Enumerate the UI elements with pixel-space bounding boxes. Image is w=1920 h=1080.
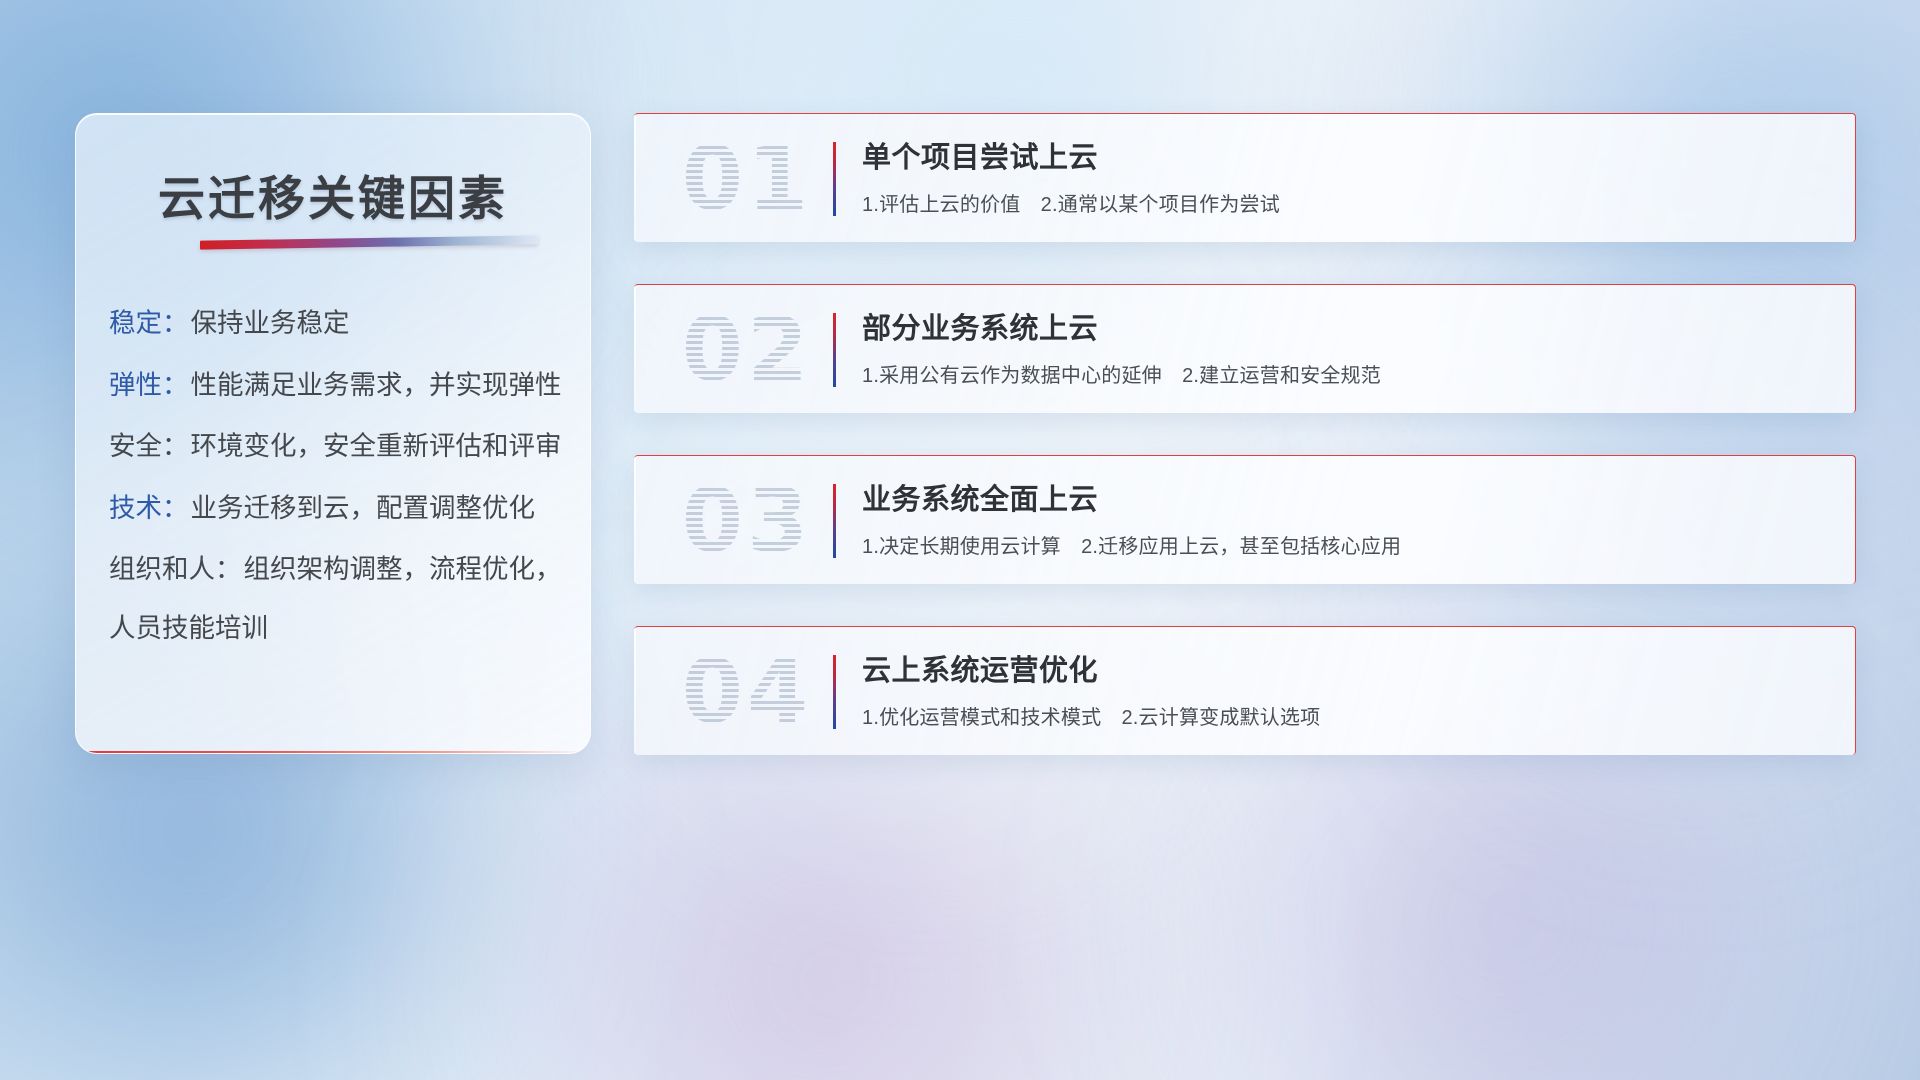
stage-card-02[interactable]: 02 部分业务系统上云 1.采用公有云作为数据中心的延伸 2.建立运营和安全规范 xyxy=(634,284,1856,413)
stage-number-graphic: 03 xyxy=(662,470,832,572)
factor-value: 业务迁移到云，配置调整优化 xyxy=(191,495,536,522)
factor-label: 弹性： xyxy=(109,372,189,399)
stage-accent-bar xyxy=(833,313,836,387)
factor-label: 稳定： xyxy=(109,310,189,337)
stage-card-body: 单个项目尝试上云 1.评估上云的价值 2.通常以某个项目作为尝试 xyxy=(862,134,1831,217)
factor-value: 组织架构调整，流程优化， xyxy=(244,556,562,583)
stage-card-body: 部分业务系统上云 1.采用公有云作为数据中心的延伸 2.建立运营和安全规范 xyxy=(862,305,1831,388)
factor-value-continuation: 人员技能培训 xyxy=(109,615,566,642)
list-item: 稳定： 保持业务稳定 xyxy=(109,310,566,337)
list-item: 组织和人： 组织架构调整，流程优化， xyxy=(109,556,566,583)
key-factors-panel: 云迁移关键因素 稳定： 保持业务稳定 弹性： 性能满足业务需求，并实现弹性 安全… xyxy=(75,113,591,754)
stage-card-01[interactable]: 01 单个项目尝试上云 1.评估上云的价值 2.通常以某个项目作为尝试 xyxy=(634,113,1856,242)
title-underline-accent xyxy=(200,235,538,249)
stage-title: 部分业务系统上云 xyxy=(862,305,1831,347)
stage-title: 单个项目尝试上云 xyxy=(862,134,1831,176)
factor-value: 环境变化，安全重新评估和评审 xyxy=(191,433,562,460)
stage-card-body: 云上系统运营优化 1.优化运营模式和技术模式 2.云计算变成默认选项 xyxy=(862,647,1831,730)
stage-description: 1.优化运营模式和技术模式 2.云计算变成默认选项 xyxy=(862,701,1831,730)
factor-value: 性能满足业务需求，并实现弹性 xyxy=(191,372,562,399)
stage-card-03[interactable]: 03 业务系统全面上云 1.决定长期使用云计算 2.迁移应用上云，甚至包括核心应… xyxy=(634,455,1856,584)
list-item: 弹性： 性能满足业务需求，并实现弹性 xyxy=(109,372,566,399)
factor-list: 稳定： 保持业务稳定 弹性： 性能满足业务需求，并实现弹性 安全： 环境变化，安… xyxy=(109,310,566,641)
stage-card-04[interactable]: 04 云上系统运营优化 1.优化运营模式和技术模式 2.云计算变成默认选项 xyxy=(634,626,1856,755)
stage-card-body: 业务系统全面上云 1.决定长期使用云计算 2.迁移应用上云，甚至包括核心应用 xyxy=(862,476,1831,559)
stage-accent-bar xyxy=(833,142,836,216)
factor-label: 技术： xyxy=(109,495,189,522)
page-title: 云迁移关键因素 xyxy=(76,160,590,229)
stage-description: 1.决定长期使用云计算 2.迁移应用上云，甚至包括核心应用 xyxy=(862,530,1831,559)
stage-title: 业务系统全面上云 xyxy=(862,476,1831,518)
stage-card-list: 01 单个项目尝试上云 1.评估上云的价值 2.通常以某个项目作为尝试 02 部… xyxy=(634,113,1856,755)
factor-label: 组织和人： xyxy=(109,556,242,583)
stage-number-graphic: 01 xyxy=(662,128,832,230)
stage-description: 1.采用公有云作为数据中心的延伸 2.建立运营和安全规范 xyxy=(862,359,1831,388)
stage-number-graphic: 04 xyxy=(662,641,832,743)
stage-title: 云上系统运营优化 xyxy=(862,647,1831,689)
stage-description: 1.评估上云的价值 2.通常以某个项目作为尝试 xyxy=(862,188,1831,217)
factor-value: 保持业务稳定 xyxy=(191,310,350,337)
list-item: 技术： 业务迁移到云，配置调整优化 xyxy=(109,495,566,522)
factor-label: 安全： xyxy=(109,433,189,460)
stage-number-graphic: 02 xyxy=(662,299,832,401)
slide-stage: 云迁移关键因素 稳定： 保持业务稳定 弹性： 性能满足业务需求，并实现弹性 安全… xyxy=(0,0,1920,1080)
stage-accent-bar xyxy=(833,655,836,729)
list-item: 安全： 环境变化，安全重新评估和评审 xyxy=(109,433,566,460)
stage-accent-bar xyxy=(833,484,836,558)
